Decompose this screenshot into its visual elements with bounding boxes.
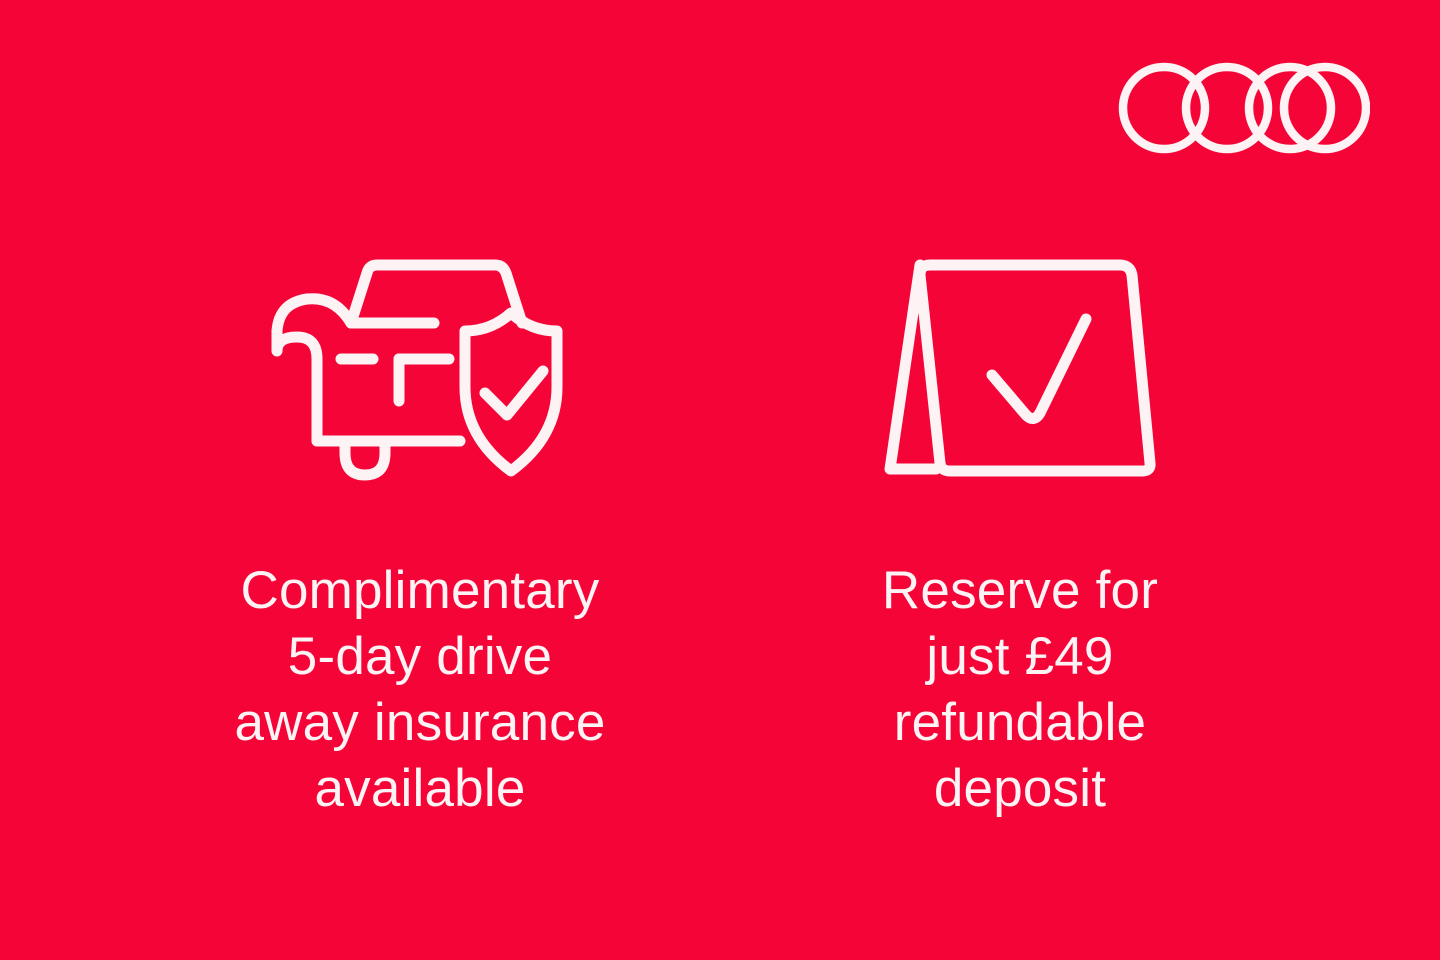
tent-card-check-reservation-icon	[884, 250, 1156, 486]
car-shield-insurance-icon	[267, 250, 573, 486]
feature-item-deposit: Reserve for just £49 refundable deposit	[740, 0, 1300, 822]
promo-banner: Complimentary 5-day drive away insurance…	[0, 0, 1440, 960]
feature-list: Complimentary 5-day drive away insurance…	[0, 0, 1440, 960]
feature-item-insurance: Complimentary 5-day drive away insurance…	[140, 0, 700, 822]
feature-item-insurance-label: Complimentary 5-day drive away insurance…	[160, 558, 680, 822]
feature-item-deposit-label: Reserve for just £49 refundable deposit	[820, 558, 1220, 822]
